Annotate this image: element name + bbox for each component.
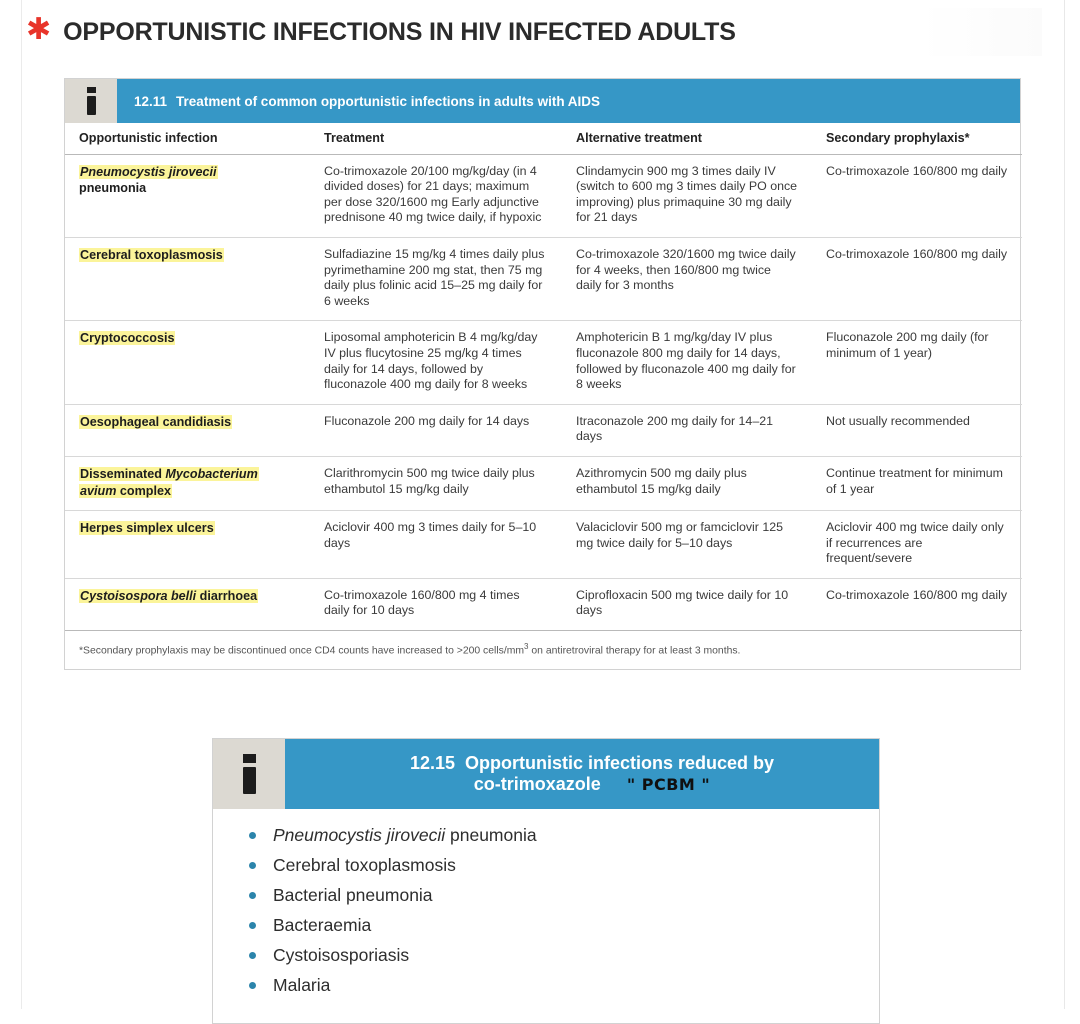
cell-secondary-prophylaxis: Continue treatment for minimum of 1 year bbox=[812, 456, 1022, 510]
table-box-12-11: 12.11 Treatment of common opportunistic … bbox=[64, 78, 1021, 670]
cell-alternative-treatment: Azithromycin 500 mg daily plus ethambuto… bbox=[562, 456, 812, 510]
table-row: Cystoisospora belli diarrhoeaCo-trimoxaz… bbox=[65, 578, 1022, 630]
cell-alternative-treatment: Ciprofloxacin 500 mg twice daily for 10 … bbox=[562, 578, 812, 630]
box1-header: 12.11 Treatment of common opportunistic … bbox=[65, 79, 1020, 123]
cell-secondary-prophylaxis: Aciclovir 400 mg twice daily only if rec… bbox=[812, 511, 1022, 579]
table-row: Cerebral toxoplasmosisSulfadiazine 15 mg… bbox=[65, 237, 1022, 320]
table-row: Disseminated Mycobacterium avium complex… bbox=[65, 456, 1022, 510]
cell-infection: Herpes simplex ulcers bbox=[65, 511, 310, 579]
cell-treatment: Co-trimoxazole 160/800 mg 4 times daily … bbox=[310, 578, 562, 630]
box2-header-bar: 12.15 Opportunistic infections reduced b… bbox=[285, 739, 879, 809]
box1-header-bar: 12.11 Treatment of common opportunistic … bbox=[117, 79, 1020, 123]
cell-alternative-treatment: Itraconazole 200 mg daily for 14–21 days bbox=[562, 404, 812, 456]
table-row: Oesophageal candidiasisFluconazole 200 m… bbox=[65, 404, 1022, 456]
box1-title: Treatment of common opportunistic infect… bbox=[176, 94, 600, 109]
column-header-alternative: Alternative treatment bbox=[562, 123, 812, 154]
cell-alternative-treatment: Valaciclovir 500 mg or famciclovir 125 m… bbox=[562, 511, 812, 579]
cell-treatment: Aciclovir 400 mg 3 times daily for 5–10 … bbox=[310, 511, 562, 579]
handwritten-annotation: " PCBM " bbox=[627, 775, 710, 794]
cell-secondary-prophylaxis: Co-trimoxazole 160/800 mg daily bbox=[812, 578, 1022, 630]
column-header-infection: Opportunistic infection bbox=[65, 123, 310, 154]
cell-treatment: Co-trimoxazole 20/100 mg/kg/day (in 4 di… bbox=[310, 154, 562, 237]
cell-secondary-prophylaxis: Not usually recommended bbox=[812, 404, 1022, 456]
table-row: Herpes simplex ulcersAciclovir 400 mg 3 … bbox=[65, 511, 1022, 579]
page-edge-right bbox=[1064, 0, 1065, 1009]
box2-title-line2: co-trimoxazole bbox=[474, 774, 601, 795]
cell-alternative-treatment: Co-trimoxazole 320/1600 mg twice daily f… bbox=[562, 237, 812, 320]
cell-infection: Oesophageal candidiasis bbox=[65, 404, 310, 456]
table-body: Pneumocystis jiroveciipneumoniaCo-trimox… bbox=[65, 154, 1022, 630]
cell-secondary-prophylaxis: Fluconazole 200 mg daily (for minimum of… bbox=[812, 321, 1022, 404]
box1-number: 12.11 bbox=[134, 94, 167, 109]
cell-treatment: Clarithromycin 500 mg twice daily plus e… bbox=[310, 456, 562, 510]
information-icon bbox=[65, 79, 117, 123]
table-header-row: Opportunistic infection Treatment Altern… bbox=[65, 123, 1022, 154]
cell-treatment: Fluconazole 200 mg daily for 14 days bbox=[310, 404, 562, 456]
cell-infection: Cystoisospora belli diarrhoea bbox=[65, 578, 310, 630]
list-item: Bacteraemia bbox=[247, 913, 879, 937]
page-header: ✱ OPPORTUNISTIC INFECTIONS IN HIV INFECT… bbox=[22, 8, 1042, 56]
cell-treatment: Liposomal amphotericin B 4 mg/kg/day IV … bbox=[310, 321, 562, 404]
list-item: Cystoisosporiasis bbox=[247, 943, 879, 967]
box2-title-line1: Opportunistic infections reduced by bbox=[465, 753, 774, 774]
cell-infection: Cryptococcosis bbox=[65, 321, 310, 404]
cell-infection: Pneumocystis jiroveciipneumonia bbox=[65, 154, 310, 237]
list-item: Pneumocystis jirovecii pneumonia bbox=[247, 823, 879, 847]
cell-alternative-treatment: Clindamycin 900 mg 3 times daily IV (swi… bbox=[562, 154, 812, 237]
list-item: Malaria bbox=[247, 973, 879, 997]
cell-secondary-prophylaxis: Co-trimoxazole 160/800 mg daily bbox=[812, 237, 1022, 320]
table-row: Pneumocystis jiroveciipneumoniaCo-trimox… bbox=[65, 154, 1022, 237]
list-item: Bacterial pneumonia bbox=[247, 883, 879, 907]
cell-infection: Disseminated Mycobacterium avium complex bbox=[65, 456, 310, 510]
opportunistic-infections-table: Opportunistic infection Treatment Altern… bbox=[65, 123, 1022, 631]
table-footnote: *Secondary prophylaxis may be discontinu… bbox=[65, 631, 1020, 668]
information-icon bbox=[213, 739, 285, 809]
box2-header: 12.15 Opportunistic infections reduced b… bbox=[213, 739, 879, 809]
page-edge-left bbox=[21, 0, 22, 1009]
red-asterisk-icon: ✱ bbox=[26, 15, 51, 45]
page-title: OPPORTUNISTIC INFECTIONS IN HIV INFECTED… bbox=[63, 18, 736, 47]
cell-treatment: Sulfadiazine 15 mg/kg 4 times daily plus… bbox=[310, 237, 562, 320]
cell-alternative-treatment: Amphotericin B 1 mg/kg/day IV plus fluco… bbox=[562, 321, 812, 404]
box2-number: 12.15 bbox=[410, 753, 455, 774]
table-row: CryptococcosisLiposomal amphotericin B 4… bbox=[65, 321, 1022, 404]
reduced-infections-list: Pneumocystis jirovecii pneumoniaCerebral… bbox=[213, 809, 879, 1023]
cell-infection: Cerebral toxoplasmosis bbox=[65, 237, 310, 320]
column-header-treatment: Treatment bbox=[310, 123, 562, 154]
list-box-12-15: 12.15 Opportunistic infections reduced b… bbox=[212, 738, 880, 1024]
column-header-prophylaxis: Secondary prophylaxis* bbox=[812, 123, 1022, 154]
list-item: Cerebral toxoplasmosis bbox=[247, 853, 879, 877]
cell-secondary-prophylaxis: Co-trimoxazole 160/800 mg daily bbox=[812, 154, 1022, 237]
